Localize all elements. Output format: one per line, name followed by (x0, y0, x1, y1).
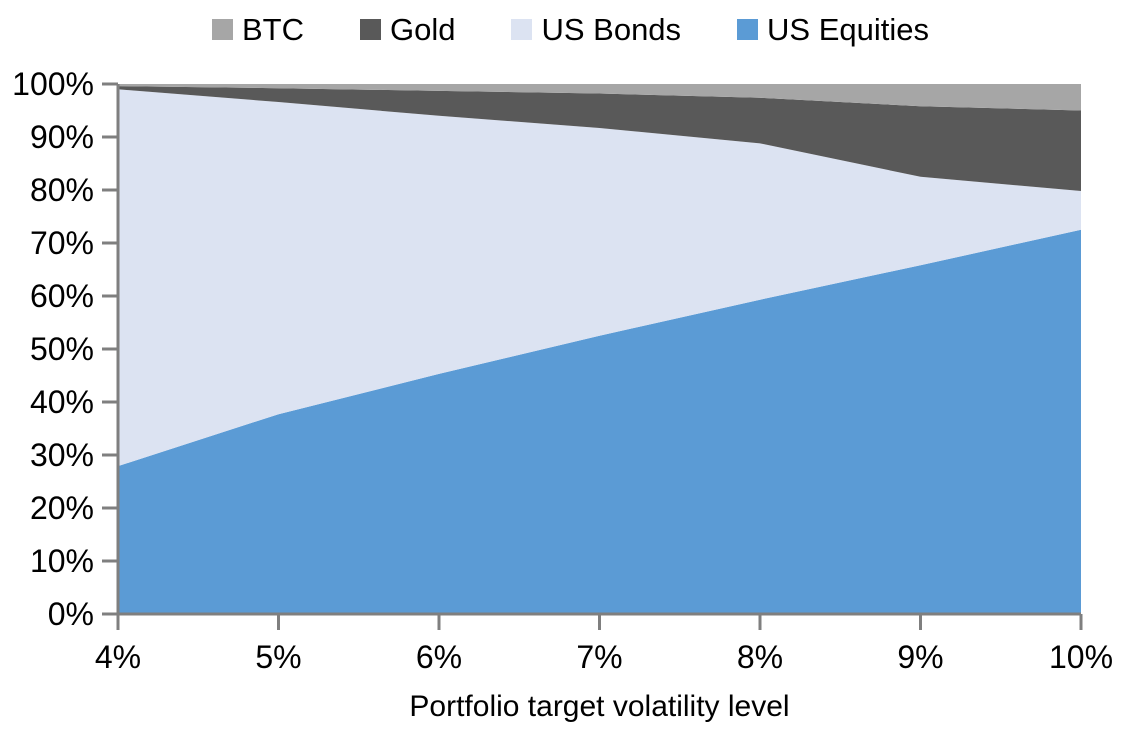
y-axis-tick-label: 50% (30, 331, 94, 367)
y-axis-tick-labels: 0%10%20%30%40%50%60%70%80%90%100% (12, 66, 94, 632)
y-axis-tick-label: 20% (30, 490, 94, 526)
stacked-area-chart: BTC Gold US Bonds US Equities 0%10% (0, 0, 1141, 742)
x-axis-tick-label: 4% (95, 639, 141, 675)
y-axis-tick-label: 90% (30, 119, 94, 155)
plot-area: 0%10%20%30%40%50%60%70%80%90%100% 4%5%6%… (0, 0, 1141, 742)
x-axis-tick-label: 5% (255, 639, 301, 675)
x-axis-tick-label: 10% (1049, 639, 1113, 675)
y-axis-tick-label: 80% (30, 172, 94, 208)
y-axis-tick-label: 40% (30, 384, 94, 420)
x-axis-tick-label: 9% (897, 639, 943, 675)
y-axis-tick-label: 70% (30, 225, 94, 261)
plot-svg: 0%10%20%30%40%50%60%70%80%90%100% 4%5%6%… (0, 0, 1141, 742)
y-axis-tick-label: 60% (30, 278, 94, 314)
x-axis-tick-labels: 4%5%6%7%8%9%10% (95, 639, 1113, 675)
y-axis-tick-label: 0% (48, 596, 94, 632)
y-axis-tick-label: 10% (30, 543, 94, 579)
area-series-group (118, 84, 1081, 614)
x-axis-ticks (118, 614, 1081, 630)
x-axis-tick-label: 7% (576, 639, 622, 675)
x-axis-tick-label: 8% (737, 639, 783, 675)
x-axis-title: Portfolio target volatility level (409, 690, 789, 723)
y-axis-tick-label: 100% (12, 66, 94, 102)
y-axis-tick-label: 30% (30, 437, 94, 473)
x-axis-tick-label: 6% (416, 639, 462, 675)
y-axis-ticks (102, 84, 118, 614)
